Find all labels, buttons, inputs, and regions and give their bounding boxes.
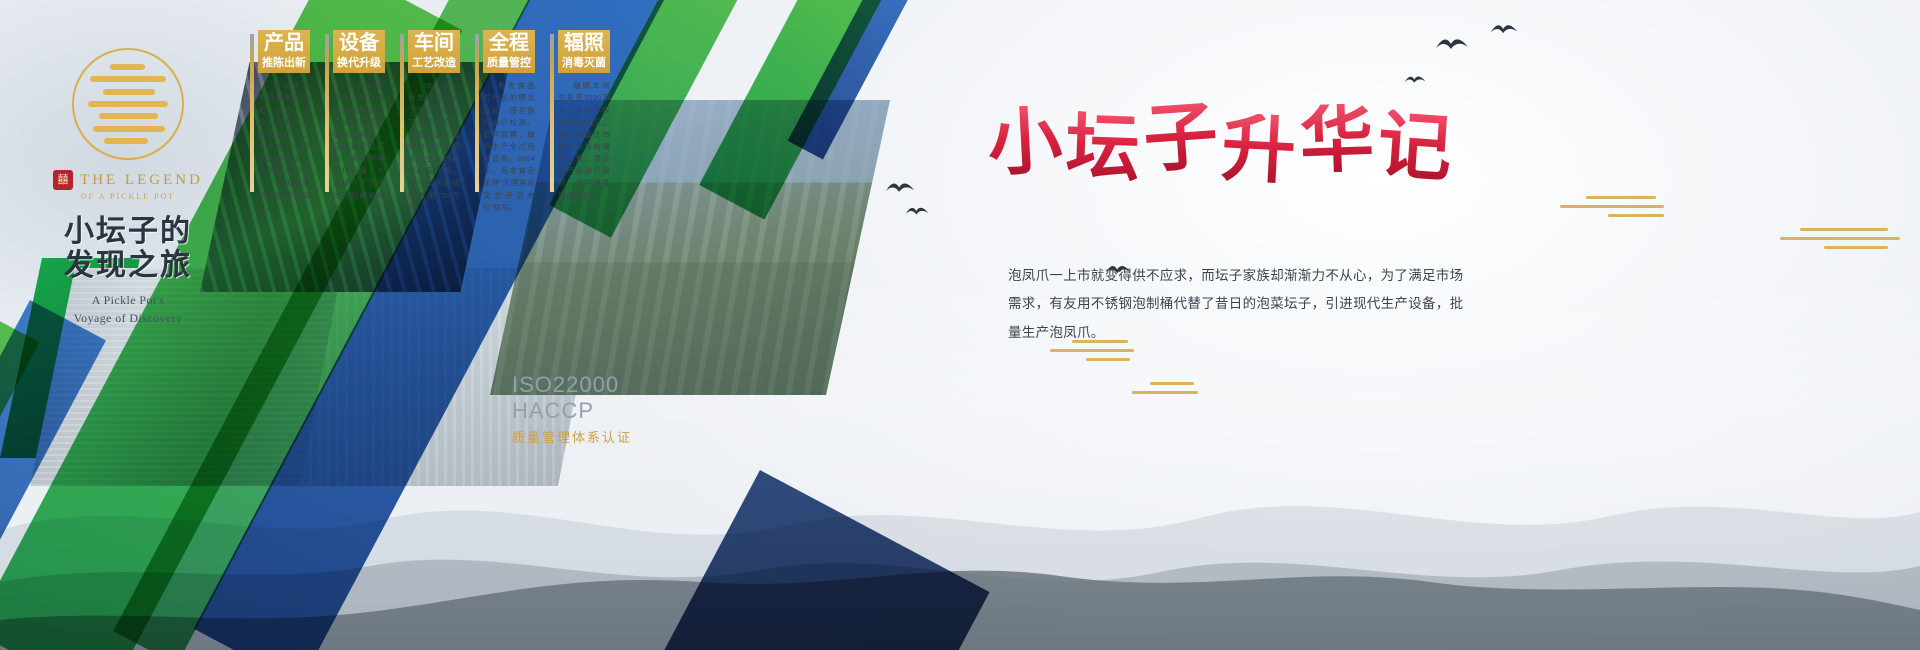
gold-cloud-motif-icon bbox=[1050, 340, 1134, 367]
info-column-equipment: 设备 换代升级 从2010年开始，有友食品先后引进了连续煮制机、自动切割机、自动… bbox=[333, 30, 385, 214]
column-tag-sub: 换代升级 bbox=[333, 57, 385, 71]
body-paragraph: 泡凤爪一上市就变得供不应求，而坛子家族却渐渐力不从心，为了满足市场需求，有友用不… bbox=[1008, 262, 1473, 347]
column-tag-sub: 推陈出新 bbox=[258, 57, 310, 71]
headline-calligraphy: 小 坛 子 升 华 记 bbox=[950, 88, 1490, 198]
banner-canvas: 囍 THE LEGEND OF A PICKLE POT 小坛子的 发现之旅 A… bbox=[0, 0, 1920, 650]
column-tag-main: 全程 bbox=[483, 33, 535, 55]
headline-char-6: 记 bbox=[1375, 108, 1454, 187]
certification-caption: 质量管理体系认证 bbox=[512, 427, 632, 446]
flying-bird-icon bbox=[885, 180, 915, 195]
column-tag-sub: 消毒灭菌 bbox=[558, 57, 610, 71]
flying-bird-icon bbox=[1404, 74, 1426, 85]
certification-haccp: HACCP bbox=[512, 398, 632, 424]
brand-title-en-line2: Voyage of Discovery bbox=[28, 310, 228, 327]
pot-seal-icon bbox=[72, 48, 184, 160]
headline-char-3: 子 bbox=[1141, 100, 1220, 179]
flying-bird-icon bbox=[1490, 22, 1518, 36]
column-tag-main: 车间 bbox=[408, 33, 460, 55]
column-tag-main: 设备 bbox=[333, 33, 385, 55]
column-body: 2011年，有友食品启动了生产车间工艺改造项目，对重庆渝北基地的四个车间进行全面… bbox=[408, 80, 460, 214]
column-body: 有友食品对产品的理化指标、感官指标进行检测、留样观察，做到生产全过程可追溯。20… bbox=[483, 80, 535, 214]
column-rail bbox=[475, 34, 479, 192]
flying-bird-icon bbox=[1435, 36, 1469, 52]
column-rail bbox=[400, 34, 404, 192]
info-column-irradiation: 辐照 消毒灭菌 辐照车间总投资3500万元，其中环保投资550万元，是目前重庆市… bbox=[558, 30, 610, 214]
certification-iso: ISO22000 bbox=[512, 372, 632, 398]
gold-cloud-motif-icon bbox=[1132, 382, 1198, 400]
brand-title-en-line1: A Pickle Pot's bbox=[28, 292, 228, 309]
column-rail bbox=[325, 34, 329, 192]
column-body: 有友食品先后研制出泡肉、泡豆、卤香及海鲜等几大系列产品，并在原有泡凤爪的基础上，… bbox=[258, 80, 310, 214]
brand-title-cn: 小坛子的 发现之旅 bbox=[28, 215, 228, 282]
brand-block: 囍 THE LEGEND OF A PICKLE POT 小坛子的 发现之旅 A… bbox=[28, 48, 228, 327]
column-tag: 全程 质量管控 bbox=[483, 30, 535, 73]
flying-bird-icon bbox=[905, 205, 929, 217]
headline-char-5: 华 bbox=[1299, 103, 1376, 180]
certification-block: ISO22000 HACCP 质量管理体系认证 bbox=[512, 372, 632, 446]
column-tag: 辐照 消毒灭菌 bbox=[558, 30, 610, 73]
headline-char-1: 小 bbox=[986, 104, 1064, 182]
legend-sub: OF A PICKLE POT bbox=[28, 192, 228, 201]
column-rail bbox=[550, 34, 554, 192]
brand-title-cn-line2: 发现之旅 bbox=[28, 249, 228, 283]
brand-title-en: A Pickle Pot's Voyage of Discovery bbox=[28, 292, 228, 327]
legend-en: THE LEGEND bbox=[80, 172, 203, 189]
info-column-workshop: 车间 工艺改造 2011年，有友食品启动了生产车间工艺改造项目，对重庆渝北基地的… bbox=[408, 30, 460, 214]
red-seal-stamp-icon: 囍 bbox=[53, 170, 73, 190]
headline-char-4: 升 bbox=[1220, 112, 1298, 190]
legend-row: 囍 THE LEGEND bbox=[28, 170, 228, 190]
column-body: 从2010年开始，有友食品先后引进了连续煮制机、自动切割机、自动真空包装机、多头… bbox=[333, 80, 385, 214]
column-tag: 车间 工艺改造 bbox=[408, 30, 460, 73]
flying-bird-icon bbox=[1105, 263, 1131, 276]
column-tag-sub: 质量管控 bbox=[483, 57, 535, 71]
headline-char-2: 坛 bbox=[1065, 111, 1142, 188]
brand-title-cn-line1: 小坛子的 bbox=[28, 215, 228, 249]
column-tag-main: 产品 bbox=[258, 33, 310, 55]
info-column-quality: 全程 质量管控 有友食品对产品的理化指标、感官指标进行检测、留样观察，做到生产全… bbox=[483, 30, 535, 214]
column-tag-sub: 工艺改造 bbox=[408, 57, 460, 71]
column-tag: 产品 推陈出新 bbox=[258, 30, 310, 73]
info-columns: 产品 推陈出新 有友食品先后研制出泡肉、泡豆、卤香及海鲜等几大系列产品，并在原有… bbox=[258, 30, 610, 214]
info-column-product: 产品 推陈出新 有友食品先后研制出泡肉、泡豆、卤香及海鲜等几大系列产品，并在原有… bbox=[258, 30, 310, 214]
gold-cloud-motif-icon bbox=[1560, 196, 1664, 223]
gold-cloud-motif-icon bbox=[1780, 228, 1900, 255]
column-tag-main: 辐照 bbox=[558, 33, 610, 55]
column-tag: 设备 换代升级 bbox=[333, 30, 385, 73]
column-body: 辐照车间总投资3500万元，其中环保投资550万元，是目前重庆市最大活度的辐照装… bbox=[558, 80, 610, 201]
column-rail bbox=[250, 34, 254, 192]
